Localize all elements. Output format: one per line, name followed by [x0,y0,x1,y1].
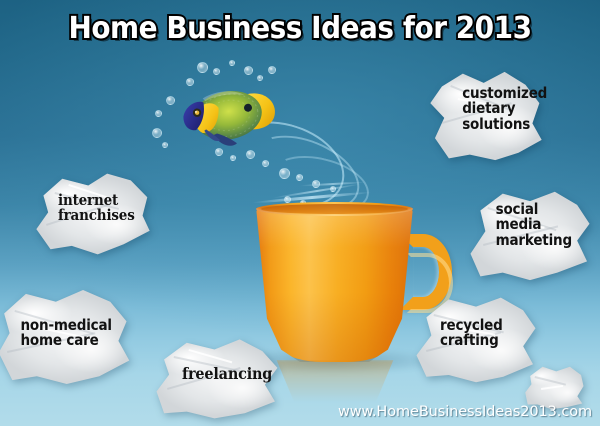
bubble [213,68,220,75]
bubble [162,142,168,148]
bubble [262,160,269,167]
idea-label-social-media-marketing: social media marketing [496,202,597,248]
bubble [279,168,290,179]
bubble [230,155,236,161]
bubble [197,62,208,73]
poster-canvas: Home Business Ideas for 2013 [0,0,600,426]
idea-label-recycled-crafting: recycled crafting [440,318,548,349]
idea-label-non-medical-home-care: non-medical home care [21,318,138,349]
bubble [246,150,255,159]
bubble [152,128,162,138]
angelfish-icon [170,69,289,161]
bubble [229,60,235,66]
mug-interior [261,204,408,214]
page-title: Home Business Ideas for 2013 [21,12,579,46]
idea-label-customized-dietary-solutions: customized dietary solutions [462,86,574,132]
bubble [330,186,336,192]
splash-streak [300,181,366,186]
bubble [312,180,320,188]
bubble [296,174,303,181]
bubble [155,110,162,117]
idea-label-freelancing: freelancing [182,366,290,382]
splash-streak [272,183,361,199]
idea-label-internet-franchises: internet franchises [58,193,166,224]
website-url: www.HomeBusinessIdeas2013.com [338,404,592,420]
